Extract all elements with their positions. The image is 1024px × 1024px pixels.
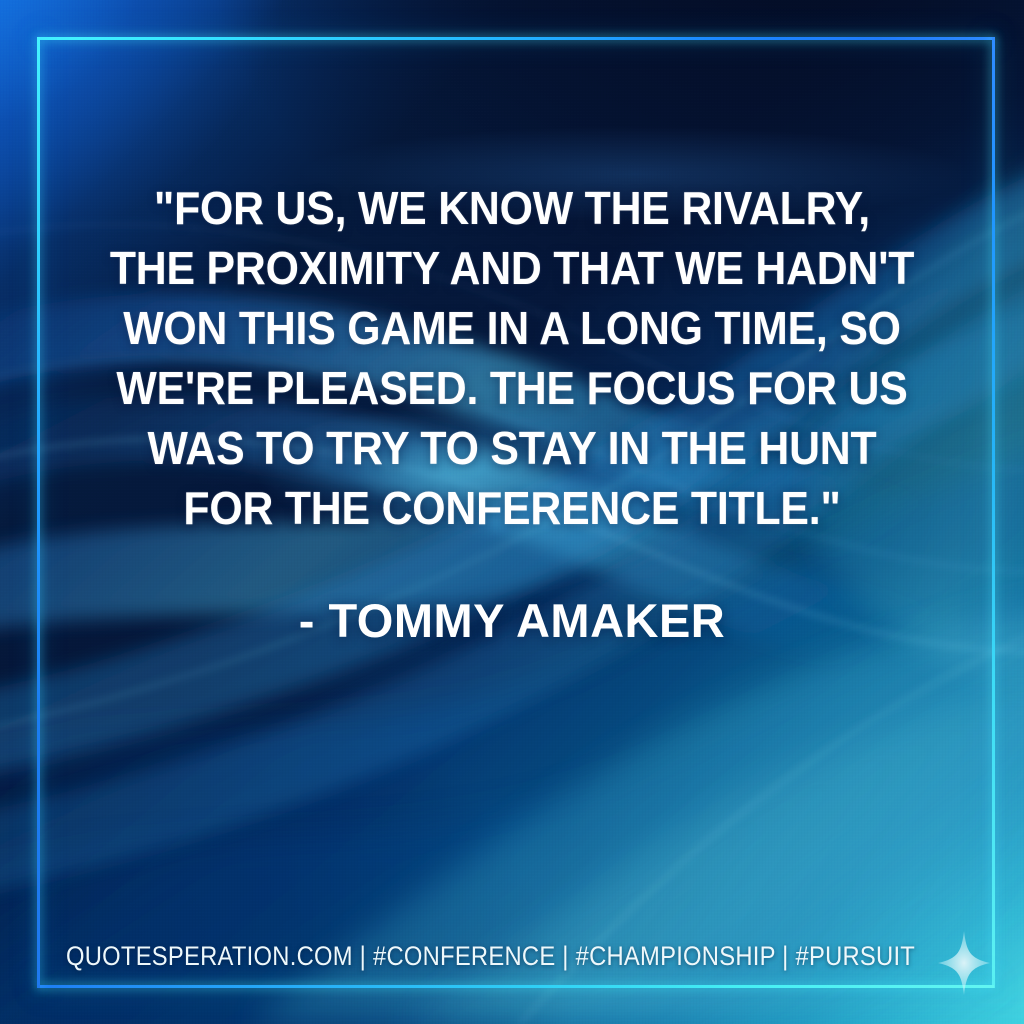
quote-line: WE'RE PLEASED. THE FOCUS FOR US bbox=[101, 358, 923, 418]
quote-text: "FOR US, WE KNOW THE RIVALRY, THE PROXIM… bbox=[0, 178, 1024, 538]
author-attribution: - TOMMY AMAKER bbox=[0, 593, 1024, 648]
quote-line: "FOR US, WE KNOW THE RIVALRY, bbox=[101, 178, 923, 238]
quote-card: "FOR US, WE KNOW THE RIVALRY, THE PROXIM… bbox=[0, 0, 1024, 1024]
footer-credits: QUOTESPERATION.COM | #CONFERENCE | #CHAM… bbox=[66, 941, 915, 972]
quote-line: WAS TO TRY TO STAY IN THE HUNT bbox=[101, 418, 923, 478]
quote-line: THE PROXIMITY AND THAT WE HADN'T bbox=[101, 238, 923, 298]
quote-line: WON THIS GAME IN A LONG TIME, SO bbox=[101, 298, 923, 358]
quote-line: FOR THE CONFERENCE TITLE." bbox=[101, 478, 923, 538]
